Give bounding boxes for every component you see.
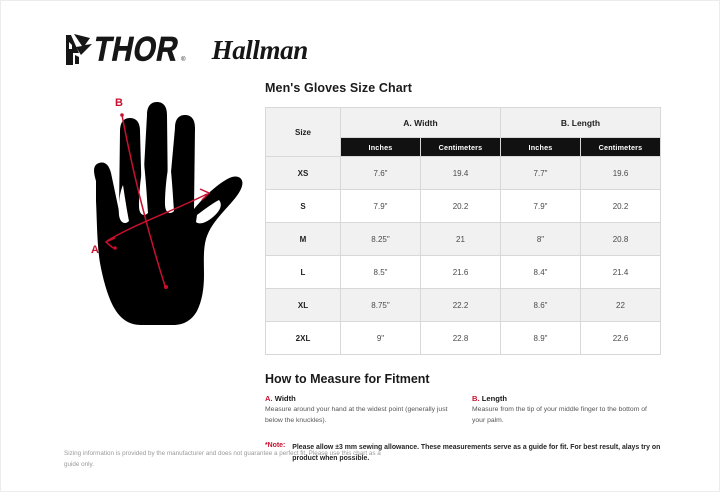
hallman-wordmark: Hallman: [212, 37, 308, 64]
label-b: B: [115, 97, 123, 109]
size-chart-page: THOR ® Hallman A B: [0, 0, 720, 492]
cell-length-centimeters: 22.6: [581, 322, 661, 355]
cell-length-inches: 8": [501, 223, 581, 256]
cell-length-centimeters: 19.6: [581, 157, 661, 190]
thor-wordmark: THOR: [91, 33, 182, 67]
cell-length-centimeters: 20.2: [581, 190, 661, 223]
length-top-dot: [120, 113, 124, 117]
howto-grid: A. Width Measure around your hand at the…: [265, 394, 661, 426]
cell-width-centimeters: 21.6: [421, 256, 501, 289]
cell-width-inches: 9": [341, 322, 421, 355]
table-row: 2XL 9" 22.8 8.9" 22.6: [266, 322, 661, 355]
column-header-size: Size: [266, 108, 341, 157]
cell-width-inches: 8.75": [341, 289, 421, 322]
length-bottom-dot: [164, 285, 168, 289]
table-head: Size A. Width B. Length Inches Centimete…: [266, 108, 661, 157]
cell-size: XL: [266, 289, 341, 322]
cell-length-centimeters: 21.4: [581, 256, 661, 289]
howto-name-length: Length: [482, 394, 507, 403]
cell-width-centimeters: 22.8: [421, 322, 501, 355]
howto-body-width: Measure around your hand at the widest p…: [265, 405, 454, 426]
cell-size: XS: [266, 157, 341, 190]
cell-length-inches: 7.9": [501, 190, 581, 223]
table-row: S 7.9" 20.2 7.9" 20.2: [266, 190, 661, 223]
cell-size: L: [266, 256, 341, 289]
column-header-length-centimeters: Centimeters: [581, 138, 661, 157]
column-header-length-inches: Inches: [501, 138, 581, 157]
cell-size: M: [266, 223, 341, 256]
cell-length-centimeters: 22: [581, 289, 661, 322]
size-chart-table: Size A. Width B. Length Inches Centimete…: [265, 107, 661, 355]
column-header-width-inches: Inches: [341, 138, 421, 157]
cell-width-centimeters: 19.4: [421, 157, 501, 190]
thor-hammer-icon: [63, 33, 93, 67]
cell-width-centimeters: 21: [421, 223, 501, 256]
table-body: XS 7.6" 19.4 7.7" 19.6 S 7.9" 20.2 7.9" …: [266, 157, 661, 355]
howto-heading-width: A. Width: [265, 394, 454, 403]
table-row: L 8.5" 21.6 8.4" 21.4: [266, 256, 661, 289]
page-title: Men's Gloves Size Chart: [265, 81, 661, 95]
howto-item-length: B. Length Measure from the tip of your m…: [472, 394, 661, 426]
cell-length-inches: 7.7": [501, 157, 581, 190]
cell-width-inches: 7.6": [341, 157, 421, 190]
table-header-row-groups: Size A. Width B. Length: [266, 108, 661, 138]
howto-heading-length: B. Length: [472, 394, 661, 403]
table-row: XL 8.75" 22.2 8.6" 22: [266, 289, 661, 322]
cell-length-inches: 8.4": [501, 256, 581, 289]
cell-size: S: [266, 190, 341, 223]
cell-width-inches: 7.9": [341, 190, 421, 223]
howto-body-length: Measure from the tip of your middle fing…: [472, 405, 661, 426]
howto-title: How to Measure for Fitment: [265, 372, 661, 386]
hand-silhouette-icon: [94, 102, 242, 325]
cell-length-inches: 8.6": [501, 289, 581, 322]
table-row: M 8.25" 21 8" 20.8: [266, 223, 661, 256]
cell-width-centimeters: 22.2: [421, 289, 501, 322]
hand-measurement-diagram: A B: [63, 93, 268, 331]
howto-item-width: A. Width Measure around your hand at the…: [265, 394, 454, 426]
label-a: A: [91, 244, 99, 256]
cell-length-centimeters: 20.8: [581, 223, 661, 256]
hand-diagram-svg: A B: [63, 93, 268, 331]
note-label: *Note:: [265, 442, 285, 449]
howto-letter-a: A.: [265, 394, 273, 403]
howto-letter-b: B.: [472, 394, 480, 403]
column-header-width-centimeters: Centimeters: [421, 138, 501, 157]
howto-name-width: Width: [275, 394, 296, 403]
column-group-header-length: B. Length: [501, 108, 661, 138]
brand-header: THOR ® Hallman: [63, 29, 308, 71]
cell-width-centimeters: 20.2: [421, 190, 501, 223]
cell-length-inches: 8.9": [501, 322, 581, 355]
column-group-header-width: A. Width: [341, 108, 501, 138]
cell-width-inches: 8.25": [341, 223, 421, 256]
content-column: Men's Gloves Size Chart Size A. Width B.…: [265, 81, 661, 464]
thor-logo: THOR ®: [63, 33, 186, 67]
table-row: XS 7.6" 19.4 7.7" 19.6: [266, 157, 661, 190]
cell-size: 2XL: [266, 322, 341, 355]
registered-trademark-icon: ®: [181, 57, 185, 67]
footer-disclaimer: Sizing information is provided by the ma…: [64, 449, 394, 470]
cell-width-inches: 8.5": [341, 256, 421, 289]
width-endpoint-dot: [113, 246, 117, 250]
